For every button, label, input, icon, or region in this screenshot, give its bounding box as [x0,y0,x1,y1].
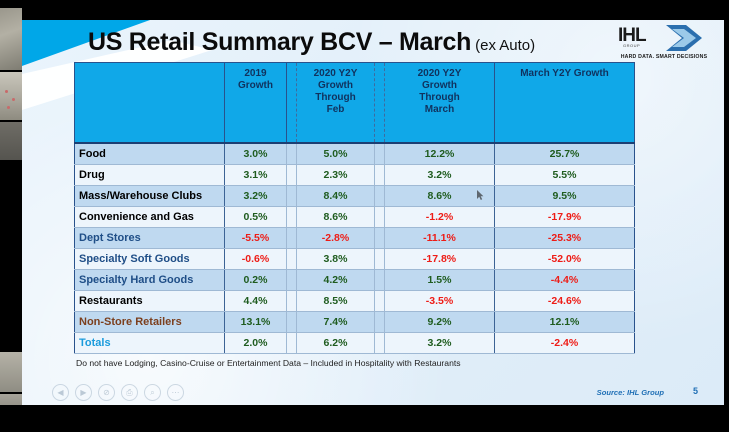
table-cell: -1.2% [385,206,495,227]
cell-spacer [375,248,385,269]
table-cell: 12.2% [385,143,495,164]
letterbox-top [22,0,729,20]
table-cell: 0.5% [225,206,287,227]
filmstrip-panel[interactable] [0,0,22,432]
cell-spacer [375,290,385,311]
table-cell: 3.2% [225,185,287,206]
table-cell: 0.2% [225,269,287,290]
table-cell: 25.7% [495,143,635,164]
table-cell: 3.8% [297,248,375,269]
table-cell: -25.3% [495,227,635,248]
table-cell: 9.2% [385,311,495,332]
row-label: Mass/Warehouse Clubs [75,185,225,206]
row-label: Dept Stores [75,227,225,248]
table-row: Non-Store Retailers13.1%7.4%9.2%12.1% [75,311,635,332]
filmstrip-thumb[interactable] [0,122,22,160]
mouse-cursor [477,190,484,200]
table-cell: 8.4% [297,185,375,206]
table-header-row: 2019 Growth 2020 Y2Y Growth Through Feb … [75,63,635,144]
table-cell: 2.3% [297,164,375,185]
logo-mark: IHL GROUP [612,24,716,52]
filmstrip-thumb[interactable] [0,8,22,70]
table-cell: -11.1% [385,227,495,248]
table-cell: 5.5% [495,164,635,185]
cell-spacer [287,164,297,185]
table-cell: 5.0% [297,143,375,164]
cell-spacer [375,227,385,248]
page-title: US Retail Summary BCV – March(ex Auto) [88,28,535,57]
table-cell: 8.5% [297,290,375,311]
column-spacer-1 [287,63,297,144]
page-number: 5 [693,386,698,396]
cell-spacer [375,185,385,206]
cell-spacer [287,206,297,227]
logo-tagline: HARD DATA. SMART DECISIONS [612,54,716,60]
cell-spacer [287,269,297,290]
row-label: Food [75,143,225,164]
row-label: Restaurants [75,290,225,311]
cell-spacer [287,248,297,269]
table-cell: -52.0% [495,248,635,269]
slide-canvas: US Retail Summary BCV – March(ex Auto) I… [22,20,724,405]
row-label: Non-Store Retailers [75,311,225,332]
table-cell: -4.4% [495,269,635,290]
ihl-logo: IHL GROUP HARD DATA. SMART DECISIONS [612,24,716,70]
row-label: Totals [75,332,225,353]
column-header-march-y2y-growth: March Y2Y Growth [495,63,635,144]
table-row: Dept Stores-5.5%-2.8%-11.1%-25.3% [75,227,635,248]
table-cell: -3.5% [385,290,495,311]
table-cell: 8.6% [297,206,375,227]
more-icon[interactable]: ⋯ [167,384,184,401]
logo-group-label: GROUP [623,43,640,48]
footnote: Do not have Lodging, Casino-Cruise or En… [76,358,461,368]
table-cell: 12.1% [495,311,635,332]
table-cell: -17.8% [385,248,495,269]
cell-spacer [375,164,385,185]
row-label: Convenience and Gas [75,206,225,227]
column-header-2019-growth: 2019 Growth [225,63,287,144]
table-body: Food3.0%5.0%12.2%25.7%Drug3.1%2.3%3.2%5.… [75,143,635,353]
table-cell: 1.5% [385,269,495,290]
screen: US Retail Summary BCV – March(ex Auto) I… [0,0,729,432]
letterbox-bottom [0,405,729,432]
table-cell: -17.9% [495,206,635,227]
page-title-subtitle: (ex Auto) [475,37,535,54]
player-toolbar[interactable]: ◀▶⊘⎙⌕⋯ [52,384,184,401]
cell-spacer [287,290,297,311]
cell-spacer [287,185,297,206]
table-cell: -2.4% [495,332,635,353]
column-header-category [75,63,225,144]
table-row: Restaurants4.4%8.5%-3.5%-24.6% [75,290,635,311]
cell-spacer [375,332,385,353]
row-label: Drug [75,164,225,185]
table-cell: 3.2% [385,164,495,185]
table-cell: -24.6% [495,290,635,311]
table-row: Drug3.1%2.3%3.2%5.5% [75,164,635,185]
source-credit: Source: IHL Group [597,388,664,397]
play-icon[interactable]: ▶ [75,384,92,401]
table-row: Totals2.0%6.2%3.2%-2.4% [75,332,635,353]
table-cell: 3.0% [225,143,287,164]
table-row: Specialty Soft Goods-0.6%3.8%-17.8%-52.0… [75,248,635,269]
table-cell: -0.6% [225,248,287,269]
table-header: 2019 Growth 2020 Y2Y Growth Through Feb … [75,63,635,144]
filmstrip-thumb[interactable] [0,72,22,120]
table-cell: -5.5% [225,227,287,248]
table-cell: 9.5% [495,185,635,206]
table-cell: 3.2% [385,332,495,353]
row-label: Specialty Soft Goods [75,248,225,269]
cell-spacer [375,311,385,332]
table-cell: 4.2% [297,269,375,290]
print-icon[interactable]: ⎙ [121,384,138,401]
table-cell: -2.8% [297,227,375,248]
cell-spacer [287,332,297,353]
table-cell: 6.2% [297,332,375,353]
column-header-2020-through-feb: 2020 Y2Y Growth Through Feb [297,63,375,144]
cell-spacer [287,143,297,164]
row-label: Specialty Hard Goods [75,269,225,290]
filmstrip-thumb[interactable] [0,352,22,392]
page-title-main: US Retail Summary BCV – March [88,28,471,56]
table-cell: 13.1% [225,311,287,332]
cell-spacer [375,269,385,290]
pen-icon[interactable]: ⊘ [98,384,115,401]
table-cell: 2.0% [225,332,287,353]
table-cell: 3.1% [225,164,287,185]
table-cell: 7.4% [297,311,375,332]
column-spacer-2 [375,63,385,144]
zoom-icon[interactable]: ⌕ [144,384,161,401]
cell-spacer [375,143,385,164]
column-header-2020-through-march: 2020 Y2Y Growth Through March [385,63,495,144]
table-row: Specialty Hard Goods0.2%4.2%1.5%-4.4% [75,269,635,290]
table-cell: 4.4% [225,290,287,311]
cell-spacer [375,206,385,227]
table-row: Convenience and Gas0.5%8.6%-1.2%-17.9% [75,206,635,227]
letterbox-right [724,0,729,432]
retail-summary-table: 2019 Growth 2020 Y2Y Growth Through Feb … [74,62,635,354]
table-row: Food3.0%5.0%12.2%25.7% [75,143,635,164]
cell-spacer [287,227,297,248]
chevron-right-icon [662,24,706,52]
table-row: Mass/Warehouse Clubs3.2%8.4%8.6%9.5% [75,185,635,206]
previous-icon[interactable]: ◀ [52,384,69,401]
cell-spacer [287,311,297,332]
